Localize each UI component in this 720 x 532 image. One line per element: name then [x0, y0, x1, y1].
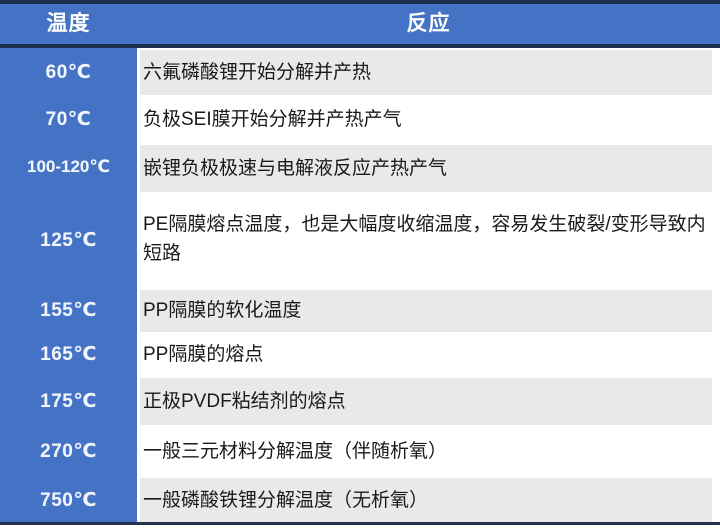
- reaction-cell: 嵌锂负极极速与电解液反应产热产气: [143, 154, 709, 183]
- reaction-cell: 正极PVDF粘结剂的熔点: [143, 387, 709, 416]
- temperature-cell: 270℃: [0, 440, 137, 463]
- temperature-cell: 60℃: [0, 61, 137, 84]
- reaction-cell: 负极SEI膜开始分解并产热产气: [143, 105, 709, 134]
- column-header-reaction: 反应: [137, 4, 720, 44]
- reaction-cell: PP隔膜的熔点: [143, 340, 709, 369]
- column-header-temperature: 温度: [0, 4, 137, 44]
- temperature-cell: 125℃: [0, 229, 137, 252]
- temperature-cell: 155℃: [0, 299, 137, 322]
- temperature-cell: 165℃: [0, 343, 137, 366]
- reaction-cell: PE隔膜熔点温度，也是大幅度收缩温度，容易发生破裂/变形导致内短路: [143, 210, 709, 268]
- reaction-cell: 一般三元材料分解温度（伴随析氧）: [143, 437, 709, 466]
- table-bottom-rule: [0, 522, 720, 525]
- temperature-cell: 175℃: [0, 390, 137, 413]
- reaction-cell: PP隔膜的软化温度: [143, 296, 709, 325]
- thermal-runaway-table: 温度 反应 60℃六氟磷酸锂开始分解并产热70℃负极SEI膜开始分解并产热产气1…: [0, 0, 720, 532]
- temperature-cell: 70℃: [0, 108, 137, 131]
- table-header-row: 温度 反应: [0, 4, 720, 44]
- reaction-cell: 六氟磷酸锂开始分解并产热: [143, 58, 709, 87]
- reaction-cell: 一般磷酸铁锂分解温度（无析氧）: [143, 486, 709, 515]
- temperature-cell: 100-120℃: [0, 157, 137, 177]
- temperature-cell: 750℃: [0, 489, 137, 512]
